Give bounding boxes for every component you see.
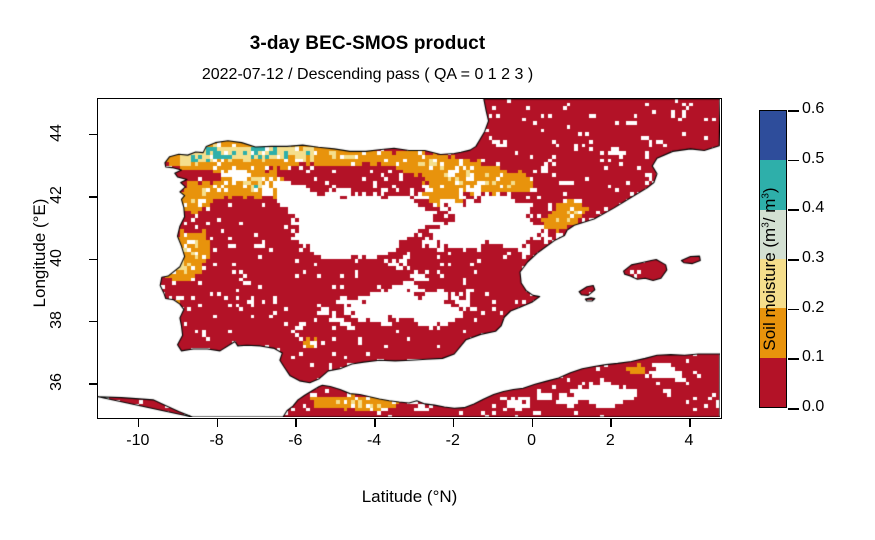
figure-root: 3-day BEC-SMOS product 2022-07-12 / Desc… (0, 0, 875, 540)
x-tick-label-4: -2 (423, 432, 483, 450)
colorbar-band-0 (760, 111, 786, 160)
x-axis-title: Latitude (°N) (97, 487, 722, 507)
colorbar-tick-5 (788, 358, 799, 360)
y-tick-label-2: 40 (48, 238, 66, 278)
colorbar-tick-label-3: 0.3 (802, 249, 824, 267)
colorbar-tick-3 (788, 259, 799, 261)
y-axis-title: Longitude (°E) (30, 133, 50, 373)
colorbar-tick-label-6: 0.0 (802, 398, 824, 416)
colorbar-tick-label-4: 0.2 (802, 299, 824, 317)
x-tick-label-5: 0 (502, 432, 562, 450)
map-plot-panel (97, 98, 722, 419)
y-tick-3 (89, 196, 97, 198)
colorbar-tick-6 (788, 408, 799, 410)
x-tick-label-6: 2 (580, 432, 640, 450)
x-tick-4 (453, 419, 455, 427)
y-tick-label-1: 38 (48, 300, 66, 340)
x-tick-7 (689, 419, 691, 427)
x-tick-6 (610, 419, 612, 427)
x-tick-1 (217, 419, 219, 427)
x-tick-2 (295, 419, 297, 427)
y-tick-4 (89, 134, 97, 136)
colorbar-title-mid: / m (760, 199, 779, 223)
colorbar-tick-4 (788, 309, 799, 311)
y-tick-1 (89, 321, 97, 323)
y-tick-label-4: 44 (48, 113, 66, 153)
x-tick-0 (138, 419, 140, 427)
x-tick-5 (532, 419, 534, 427)
colorbar-tick-label-5: 0.1 (802, 348, 824, 366)
x-tick-label-1: -8 (187, 432, 247, 450)
y-tick-2 (89, 259, 97, 261)
x-tick-label-2: -6 (265, 432, 325, 450)
colorbar-title-sup2: 3 (760, 193, 771, 199)
y-tick-label-3: 42 (48, 175, 66, 215)
chart-subtitle: 2022-07-12 / Descending pass ( QA = 0 1 … (0, 66, 735, 84)
x-tick-label-0: -10 (108, 432, 168, 450)
colorbar-tick-1 (788, 160, 799, 162)
y-tick-0 (89, 383, 97, 385)
colorbar-title: Soil moisture (m3/ m3) (760, 154, 780, 384)
chart-title: 3-day BEC-SMOS product (0, 33, 735, 55)
colorbar-tick-label-2: 0.4 (802, 199, 824, 217)
colorbar-title-suffix: ) (760, 187, 779, 193)
colorbar-tick-0 (788, 110, 799, 112)
x-tick-label-3: -4 (344, 432, 404, 450)
x-tick-3 (374, 419, 376, 427)
colorbar-title-prefix: Soil moisture (m (760, 228, 779, 351)
x-tick-label-7: 4 (659, 432, 719, 450)
colorbar-tick-label-1: 0.5 (802, 150, 824, 168)
colorbar-title-sup1: 3 (760, 222, 771, 228)
soil-moisture-raster (98, 99, 720, 417)
colorbar-tick-label-0: 0.6 (802, 100, 824, 118)
colorbar-tick-2 (788, 209, 799, 211)
y-tick-label-0: 36 (48, 362, 66, 402)
